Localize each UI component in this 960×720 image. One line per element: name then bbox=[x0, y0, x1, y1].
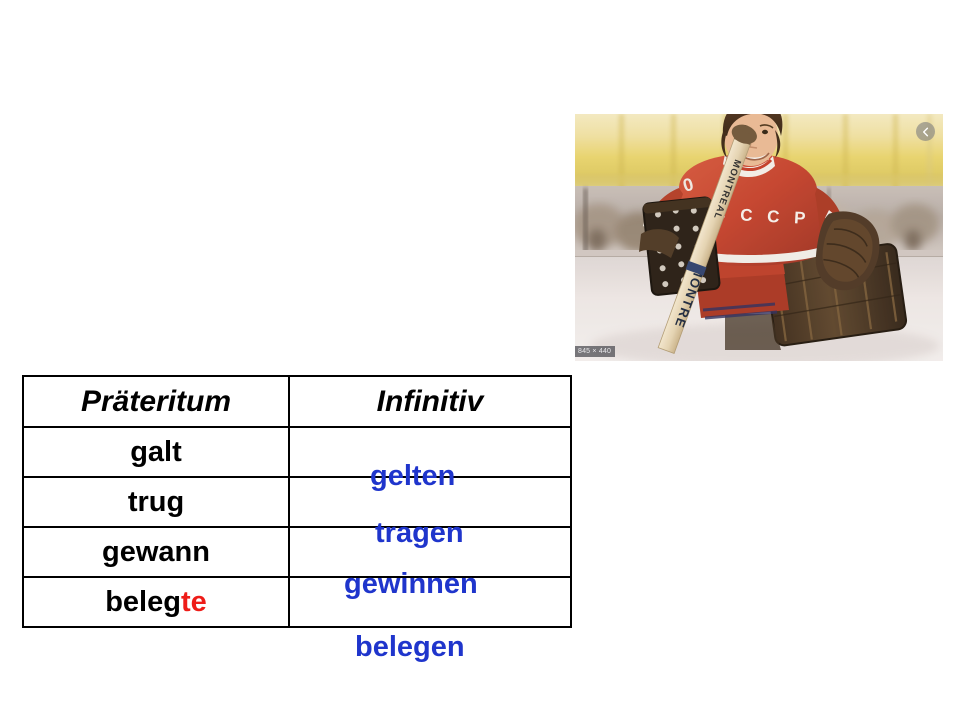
previous-image-button[interactable] bbox=[916, 122, 935, 141]
header-label-preterite: Präteritum bbox=[81, 385, 231, 418]
preterite-cell-gewann: gewann bbox=[23, 527, 289, 577]
header-cell-preterite: Präteritum bbox=[23, 376, 289, 427]
preterite-stem: beleg bbox=[105, 586, 181, 618]
preterite-cell-galt: galt bbox=[23, 427, 289, 477]
preterite-cell-belegte: belegte bbox=[23, 577, 289, 627]
infinitive-answer-gelten: gelten bbox=[370, 462, 455, 491]
chevron-left-icon bbox=[921, 127, 931, 137]
table-row: galt bbox=[23, 427, 571, 477]
table-row: belegte bbox=[23, 577, 571, 627]
infinitive-answer-belegen: belegen bbox=[355, 633, 465, 662]
infinitive-answer-tragen: tragen bbox=[375, 519, 464, 548]
table-row: trug bbox=[23, 477, 571, 527]
preterite-word: galt bbox=[130, 436, 182, 468]
header-cell-infinitive: Infinitiv bbox=[289, 376, 571, 427]
infinitive-answer-gewinnen: gewinnen bbox=[344, 570, 478, 599]
image-dimension-badge: 845 × 440 bbox=[575, 346, 615, 357]
table-header-row: Präteritum Infinitiv bbox=[23, 376, 571, 427]
preterite-word: belegte bbox=[105, 586, 207, 618]
preterite-infinitive-table: Präteritum Infinitiv galt trug gewann bbox=[22, 375, 572, 628]
preterite-word: gewann bbox=[102, 536, 210, 568]
hockey-photo-image: C C C P 0 bbox=[575, 114, 943, 361]
preterite-cell-trug: trug bbox=[23, 477, 289, 527]
hockey-photo-panel: C C C P 0 bbox=[575, 114, 943, 361]
preterite-word: trug bbox=[128, 486, 184, 518]
header-label-infinitive: Infinitiv bbox=[377, 385, 484, 418]
preterite-suffix-highlight: te bbox=[181, 586, 207, 618]
table-row: gewann bbox=[23, 527, 571, 577]
